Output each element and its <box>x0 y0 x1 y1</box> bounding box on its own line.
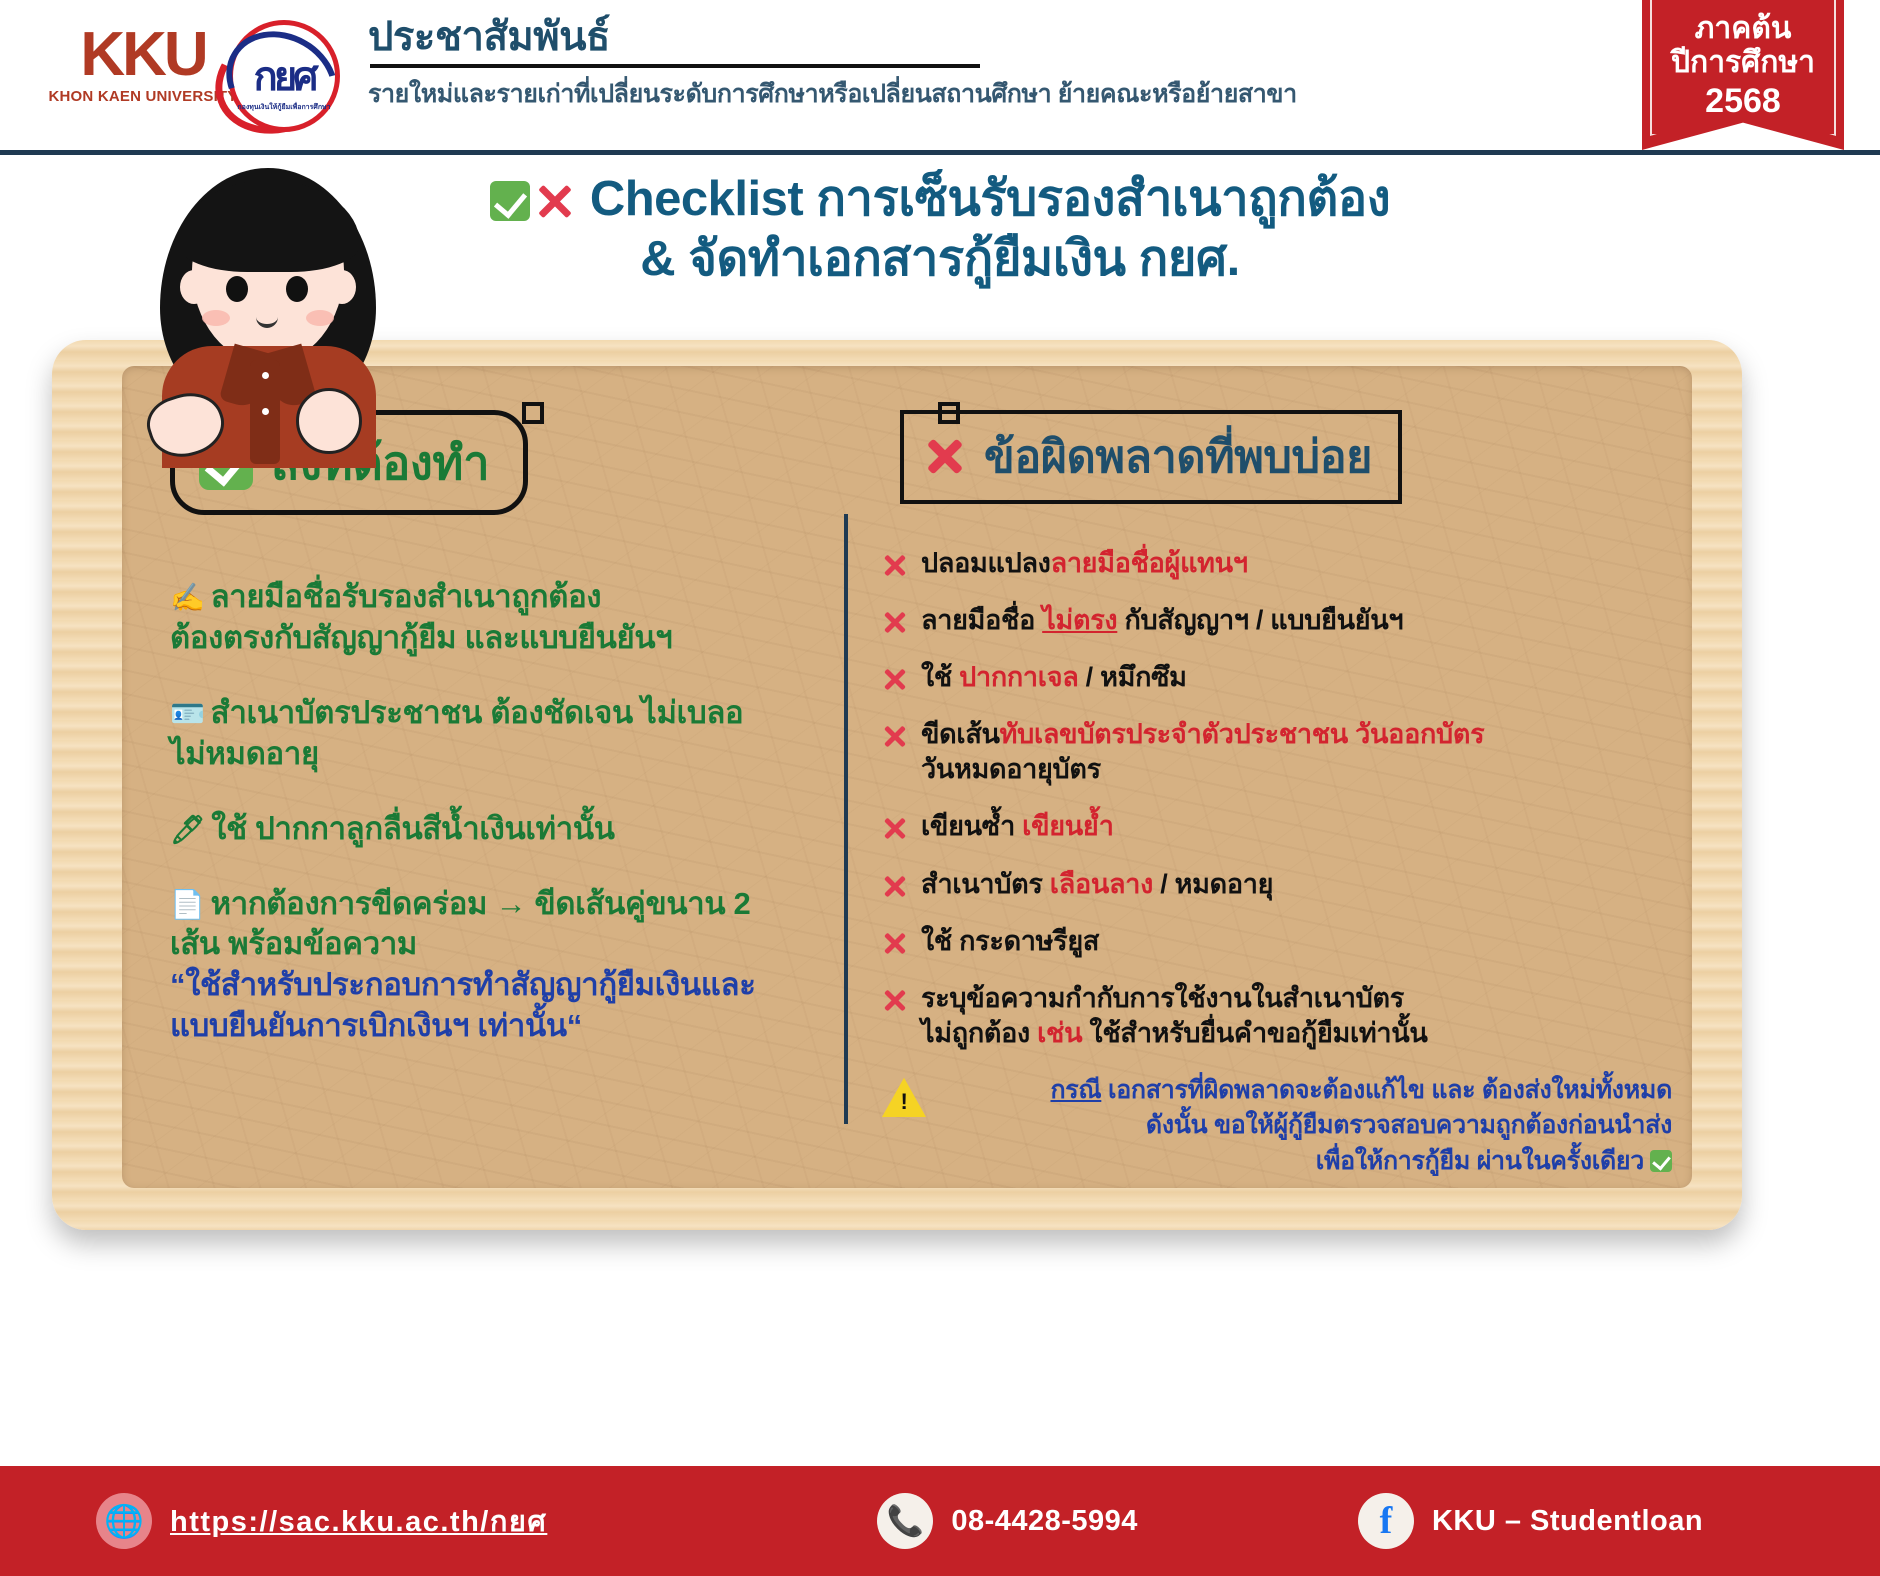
eye-right <box>286 276 308 302</box>
mistake-6-red: เลือนลาง <box>1050 869 1153 899</box>
header-text-block: ประชาสัมพันธ์ รายใหม่และรายเก่าที่เปลี่ย… <box>368 16 1608 114</box>
mistakes-list: ปลอมแปลงลายมือชื่อผู้แทนฯ ลายมือชื่อ ไม่… <box>882 546 1672 1179</box>
board-surface: สิ่งที่ต้องทำ ✍️ลายมือชื่อรับรองสำเนาถูก… <box>122 366 1692 1188</box>
pen-icon: 🖊 <box>170 814 205 845</box>
warning-note-line-3: เพื่อให้การกู้ยืม ผ่านในครั้งเดียว <box>1316 1147 1644 1175</box>
mistake-5-dark: เขียนซ้ำ <box>921 811 1022 841</box>
do-item-1-line-1: ลายมือชื่อรับรองสำเนาถูกต้อง <box>211 579 602 614</box>
mistake-6-text: สำเนาบัตร เลือนลาง / หมดอายุ <box>921 867 1273 902</box>
mistake-1-text: ปลอมแปลงลายมือชื่อผู้แทนฯ <box>921 546 1248 581</box>
check-icon <box>490 181 530 221</box>
mistake-6-dark-2: หมดอายุ <box>1175 869 1274 899</box>
ribbon-line-1: ภาคต้น <box>1695 12 1792 46</box>
list-item: ใช้ ปากกาเจล / หมึกซึม <box>882 660 1672 695</box>
x-icon <box>882 610 908 636</box>
do-item-3-line-1: ใช้ ปากกาลูกลื่นสีน้ำเงินเท่านั้น <box>211 811 614 846</box>
x-icon <box>882 874 908 900</box>
mistake-8-dark: ระบุข้อความกำกับการใช้งานในสำเนาบัตร <box>921 983 1404 1013</box>
wooden-board: สิ่งที่ต้องทำ ✍️ลายมือชื่อรับรองสำเนาถูก… <box>52 340 1742 1230</box>
mistake-8-red: เช่น <box>1037 1018 1082 1048</box>
list-item: ใช้ กระดาษรียูส <box>882 924 1672 959</box>
mistake-3-text: ใช้ ปากกาเจล / หมึกซึม <box>921 660 1187 695</box>
sac-loan-fund-logo: กยศ กองทุนเงินให้กู้ยืมเพื่อการศึกษา <box>208 14 358 134</box>
list-item: สำเนาบัตร เลือนลาง / หมดอายุ <box>882 867 1672 902</box>
footer-website-label[interactable]: https://sac.kku.ac.th/กยศ <box>170 1498 547 1544</box>
column-divider <box>844 514 848 1124</box>
mistake-6-sep: / <box>1153 869 1175 899</box>
footer-phone-label[interactable]: 08-4428-5994 <box>951 1505 1138 1538</box>
logo-caption: กองทุนเงินให้กู้ยืมเพื่อการศึกษา <box>224 102 344 113</box>
ribbon-line-2: ปีการศึกษา <box>1671 46 1815 80</box>
do-item-2-line-1: สำเนาบัตรประชาชน ต้องชัดเจน ไม่เบลอ <box>211 695 744 730</box>
warning-note-lead: กรณี <box>1050 1076 1101 1104</box>
document-icon: 📄 <box>170 889 205 920</box>
id-card-icon: 🪪 <box>170 698 205 729</box>
do-item-4-blue-line-2: แบบยืนยันการเบิกเงินฯ เท่านั้น“ <box>170 1006 810 1047</box>
right-column: ข้อผิดพลาดที่พบบ่อย ปลอมแปลงลายมือชื่อผู… <box>882 410 1672 1179</box>
mistake-4-text: ขีดเส้นทับเลขบัตรประจำตัวประชาชน วันออกบ… <box>921 717 1484 787</box>
header-divider <box>370 64 980 68</box>
mistake-2-underline: ไม่ตรง <box>1042 605 1117 635</box>
semester-ribbon-badge: ภาคต้น ปีการศึกษา 2568 <box>1642 0 1844 150</box>
mistake-1-dark: ปลอมแปลง <box>921 548 1051 578</box>
do-item-4-line-2: เส้น พร้อมข้อความ <box>170 926 417 961</box>
left-column: สิ่งที่ต้องทำ ✍️ลายมือชื่อรับรองสำเนาถูก… <box>170 410 810 1081</box>
x-icon <box>532 179 576 223</box>
shirt-button-1 <box>262 372 269 379</box>
footer-phone[interactable]: 📞 08-4428-5994 <box>877 1493 1138 1549</box>
list-item: 📄หากต้องการขีดคร่อม → ขีดเส้นคู่ขนาน 2 เ… <box>170 884 810 1048</box>
mistakes-heading-label: ข้อผิดพลาดที่พบบ่อย <box>984 420 1372 492</box>
mistake-4-line-2: วันหมดอายุบัตร <box>921 754 1101 784</box>
cheek-left <box>202 310 230 326</box>
mistakes-heading: ข้อผิดพลาดที่พบบ่อย <box>900 410 1402 504</box>
mistake-2-tail: กับสัญญาฯ / แบบยืนยันฯ <box>1117 605 1403 635</box>
facebook-icon: f <box>1358 1493 1414 1549</box>
list-item: ลายมือชื่อ ไม่ตรง กับสัญญาฯ / แบบยืนยันฯ <box>882 603 1672 638</box>
writing-hand-icon: ✍️ <box>170 582 205 613</box>
globe-icon: 🌐 <box>96 1493 152 1549</box>
clip-left-top-2 <box>522 402 544 424</box>
list-item: เขียนซ้ำ เขียนย้ำ <box>882 809 1672 844</box>
mistake-5-text: เขียนซ้ำ เขียนย้ำ <box>921 809 1114 844</box>
eye-left <box>226 276 248 302</box>
mistake-7-text: ใช้ กระดาษรียูส <box>921 924 1099 959</box>
list-item: ปลอมแปลงลายมือชื่อผู้แทนฯ <box>882 546 1672 581</box>
list-item: 🖊ใช้ ปากกาลูกลื่นสีน้ำเงินเท่านั้น <box>170 809 810 850</box>
page-footer: 🌐 https://sac.kku.ac.th/กยศ 📞 08-4428-59… <box>0 1466 1880 1576</box>
check-icon <box>1650 1150 1672 1172</box>
hand-right <box>296 388 362 454</box>
mistake-1-red: ลายมือชื่อผู้แทนฯ <box>1051 548 1248 578</box>
logo-text: กยศ <box>228 20 340 132</box>
x-icon <box>882 988 908 1014</box>
mistake-8-line-2: ไม่ถูกต้อง <box>921 1018 1037 1048</box>
mistake-3-sep: / <box>1078 662 1100 692</box>
mistake-3-red-2: หมึกซึม <box>1100 662 1187 692</box>
header-title: ประชาสัมพันธ์ <box>368 16 1608 58</box>
mistake-4-red: ทับเลขบัตรประจำตัวประชาชน วันออกบัตร <box>1000 719 1485 749</box>
mistake-2-dark: ลายมือชื่อ <box>921 605 1042 635</box>
mistake-7-dark-2: กระดาษรียูส <box>959 926 1099 956</box>
x-icon <box>882 816 908 842</box>
x-icon <box>882 553 908 579</box>
footer-facebook-label[interactable]: KKU – Studentloan <box>1432 1505 1703 1538</box>
warning-note-body: กรณี เอกสารที่ผิดพลาดจะต้องแก้ไข และ ต้อ… <box>938 1073 1672 1180</box>
mistake-4-dark: ขีดเส้น <box>921 719 1000 749</box>
warning-note-line-1: เอกสารที่ผิดพลาดจะต้องแก้ไข และ ต้องส่งใ… <box>1101 1076 1672 1104</box>
phone-icon: 📞 <box>877 1493 933 1549</box>
mistake-2-text: ลายมือชื่อ ไม่ตรง กับสัญญาฯ / แบบยืนยันฯ <box>921 603 1403 638</box>
cheek-right <box>306 310 334 326</box>
do-list: ✍️ลายมือชื่อรับรองสำเนาถูกต้อง ต้องตรงกั… <box>170 577 810 1047</box>
ribbon-line-3: 2568 <box>1705 81 1781 122</box>
do-item-2-line-2: ไม่หมดอายุ <box>170 736 319 771</box>
list-item: ✍️ลายมือชื่อรับรองสำเนาถูกต้อง ต้องตรงกั… <box>170 577 810 659</box>
page-header: KKU KHON KAEN UNIVERSITY กยศ กองทุนเงินใ… <box>0 0 1880 160</box>
do-item-4-blue-line-1: “ใช้สำหรับประกอบการทำสัญญากู้ยืมเงินและ <box>170 965 810 1006</box>
clip-right-top <box>938 402 960 424</box>
list-item: 🪪สำเนาบัตรประชาชน ต้องชัดเจน ไม่เบลอ ไม่… <box>170 693 810 775</box>
do-item-4-line-1: หากต้องการขีดคร่อม → ขีดเส้นคู่ขนาน 2 <box>211 886 751 921</box>
mistake-5-red: เขียนย้ำ <box>1022 811 1113 841</box>
mistake-6-dark: สำเนาบัตร <box>921 869 1050 899</box>
mistake-8-text: ระบุข้อความกำกับการใช้งานในสำเนาบัตรไม่ถ… <box>921 981 1428 1051</box>
do-item-1-line-2: ต้องตรงกับสัญญากู้ยืม และแบบยืนยันฯ <box>170 620 672 655</box>
footer-website[interactable]: 🌐 https://sac.kku.ac.th/กยศ <box>96 1493 547 1549</box>
x-icon <box>882 931 908 957</box>
x-icon <box>882 667 908 693</box>
mistake-3-dark: ใช้ <box>921 662 959 692</box>
footer-facebook[interactable]: f KKU – Studentloan <box>1358 1493 1703 1549</box>
mistake-7-dark: ใช้ <box>921 926 959 956</box>
list-item: ระบุข้อความกำกับการใช้งานในสำเนาบัตรไม่ถ… <box>882 981 1672 1051</box>
x-icon <box>922 433 968 479</box>
warning-note-line-2: ดังนั้น ขอให้ผู้กู้ยืมตรวจสอบความถูกต้อง… <box>1146 1111 1672 1139</box>
shirt-button-2 <box>262 408 269 415</box>
warning-note: กรณี เอกสารที่ผิดพลาดจะต้องแก้ไข และ ต้อ… <box>882 1073 1672 1180</box>
ear-right <box>328 270 356 304</box>
mistake-3-red: ปากกาเจล <box>959 662 1078 692</box>
header-subtitle: รายใหม่และรายเก่าที่เปลี่ยนระดับการศึกษา… <box>368 74 1608 114</box>
mistake-8-line-2b: ใช้สำหรับยื่นคำขอกู้ยืมเท่านั้น <box>1082 1018 1427 1048</box>
infographic-page: KKU KHON KAEN UNIVERSITY กยศ กองทุนเงินใ… <box>0 0 1880 1576</box>
warning-icon <box>882 1077 926 1117</box>
list-item: ขีดเส้นทับเลขบัตรประจำตัวประชาชน วันออกบ… <box>882 717 1672 787</box>
ear-left <box>180 270 208 304</box>
student-illustration <box>140 150 400 460</box>
x-icon <box>882 724 908 750</box>
main-title-text-1: Checklist การเซ็นรับรองสำเนาถูกต้อง <box>590 172 1390 226</box>
